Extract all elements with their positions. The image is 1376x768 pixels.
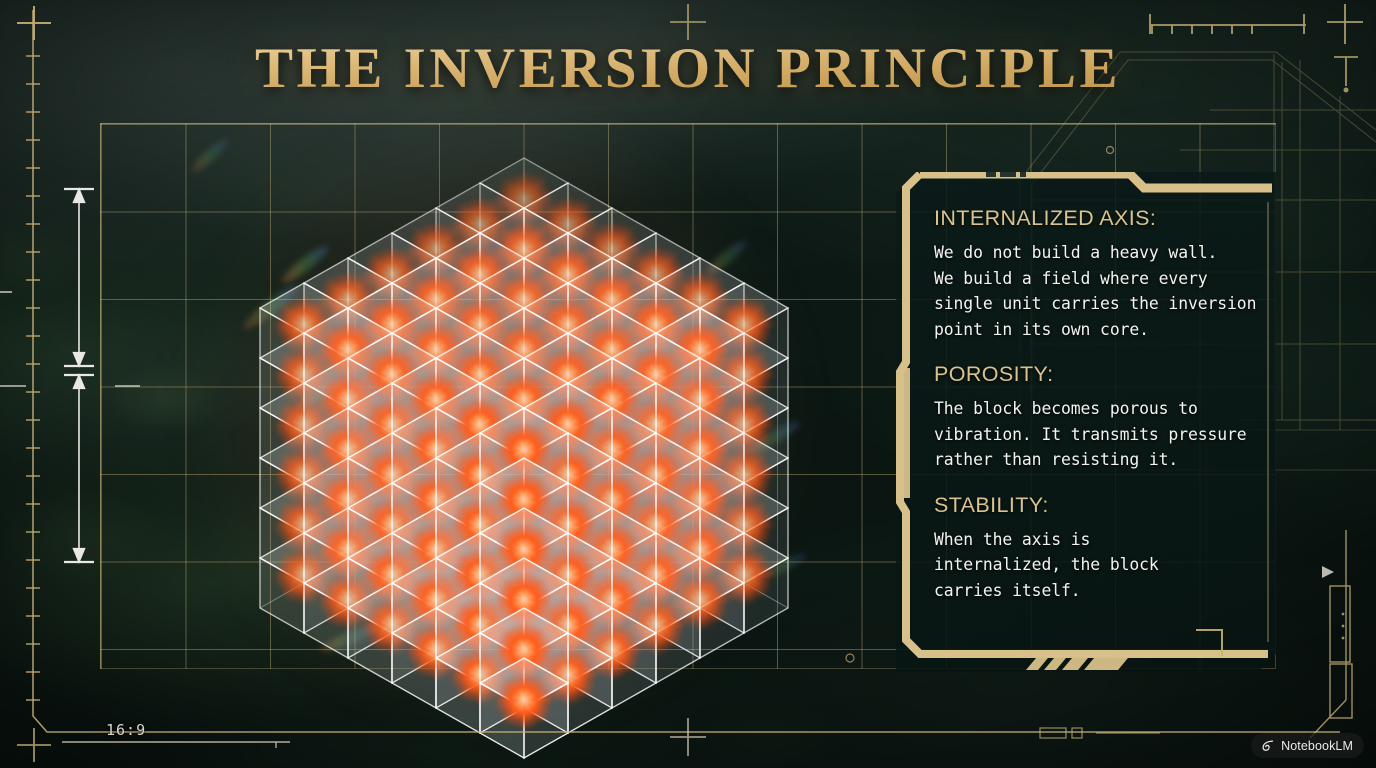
section-heading: STABILITY: — [934, 493, 1260, 518]
section-heading: POROSITY: — [934, 362, 1260, 387]
slide-stage: THE INVERSION PRINCIPLE — [0, 0, 1376, 768]
section-body: The block becomes porous to vibration. I… — [934, 396, 1260, 473]
notebooklm-spiral-icon — [1260, 738, 1275, 753]
info-panel: INTERNALIZED AXIS: We do not build a hea… — [896, 172, 1276, 672]
notebooklm-watermark: NotebookLM — [1251, 733, 1364, 758]
panel-section: INTERNALIZED AXIS: We do not build a hea… — [934, 206, 1260, 342]
lattice-unit-cell — [476, 646, 572, 742]
dimension-arrows — [52, 170, 122, 580]
info-panel-content: INTERNALIZED AXIS: We do not build a hea… — [934, 206, 1260, 603]
notebooklm-label: NotebookLM — [1281, 739, 1353, 753]
section-body: We do not build a heavy wall. We build a… — [934, 240, 1260, 342]
cube-lattice-diagram — [228, 128, 768, 698]
section-heading: INTERNALIZED AXIS: — [934, 206, 1260, 231]
cube-lattice-cells — [228, 128, 768, 698]
section-body: When the axis is internalized, the block… — [934, 527, 1260, 604]
aspect-ratio-label: 16:9 — [106, 721, 146, 739]
panel-section: STABILITY: When the axis is internalized… — [934, 493, 1260, 604]
panel-section: POROSITY: The block becomes porous to vi… — [934, 362, 1260, 473]
